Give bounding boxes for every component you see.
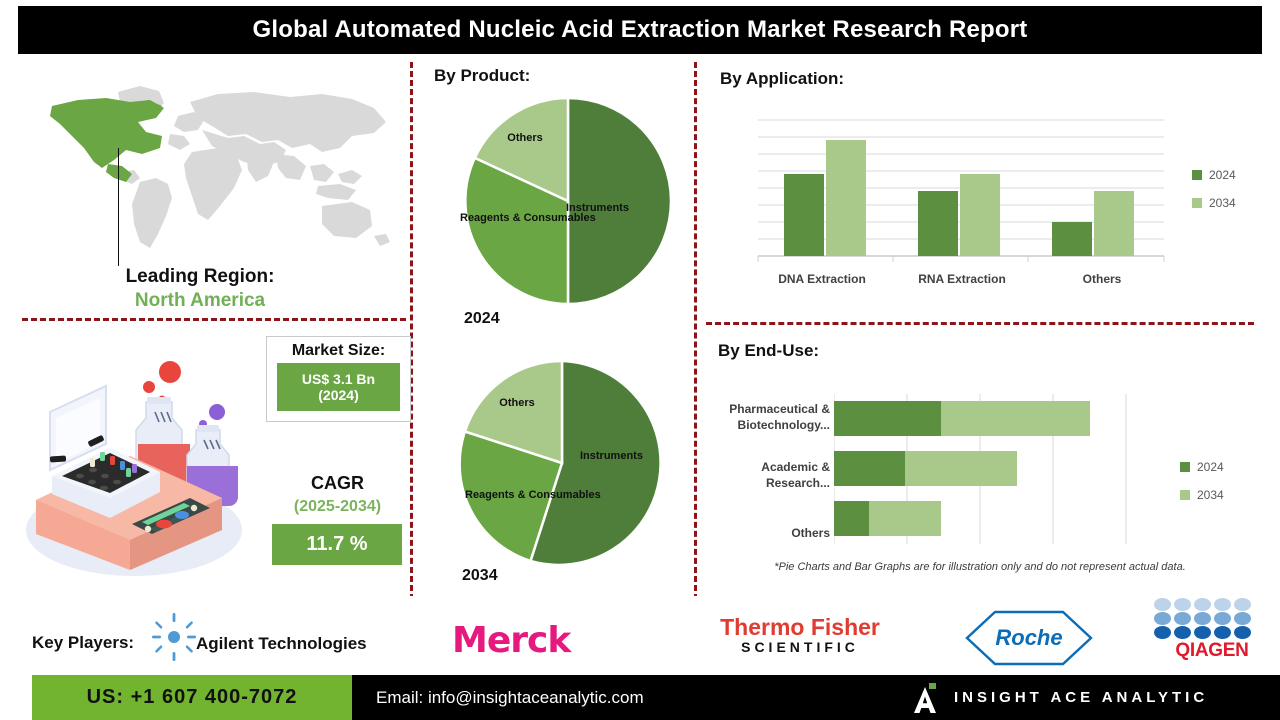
application-legend-item-2034: 2034: [1192, 196, 1236, 210]
market-size-value: US$ 3.1 Bn: [302, 371, 375, 387]
application-category-labels: DNA Extraction RNA Extraction Others: [752, 272, 1172, 286]
key-players-label: Key Players:: [32, 633, 134, 653]
pie-2034-reagents-text: Reagents & Consumables: [465, 489, 601, 501]
agilent-logo-icon: [152, 613, 196, 661]
thermofisher-logo-sub: SCIENTIFIC: [700, 639, 900, 655]
insight-ace-logo-icon: [912, 683, 938, 713]
by-product-heading: By Product:: [434, 66, 530, 86]
end-use-legend: 2024 2034: [1180, 460, 1224, 516]
footer-brand: INSIGHT ACE ANALYTIC: [912, 675, 1208, 720]
application-bar-chart: [752, 112, 1172, 272]
end-use-category-academic: Academic & Research...: [696, 454, 830, 498]
footer-phone[interactable]: US: +1 607 400-7072: [32, 675, 352, 720]
cagr-value: 11.7 %: [306, 533, 367, 556]
title-bar: Global Automated Nucleic Acid Extraction…: [18, 6, 1262, 54]
legend-label-2034: 2034: [1209, 196, 1236, 210]
pie-2024-label-others: Others: [490, 132, 560, 146]
infographic-page: Global Automated Nucleic Acid Extraction…: [0, 0, 1280, 720]
pie-2024-reagents-text: Reagents & Consumables: [460, 212, 596, 224]
by-end-use-heading: By End-Use:: [718, 341, 819, 361]
application-category-others: Others: [1032, 272, 1172, 286]
leading-region-label: Leading Region:: [0, 266, 400, 288]
market-size-card: Market Size: US$ 3.1 Bn (2024): [266, 336, 411, 422]
end-use-legend-item-2034: 2034: [1180, 488, 1224, 502]
qiagen-logo: QIAGEN: [1152, 597, 1272, 659]
divider-horizontal-right: [706, 322, 1254, 325]
pie-2034-label-reagents: Reagents & Consumables: [465, 489, 590, 503]
by-application-heading: By Application:: [720, 69, 844, 89]
legend-label-end-use-2024: 2024: [1197, 460, 1224, 474]
pie-2034-label-others: Others: [482, 397, 552, 411]
thermofisher-logo: Thermo Fisher SCIENTIFIC: [700, 615, 900, 655]
end-use-category-others: Others: [696, 512, 830, 556]
legend-swatch-end-use-2034: [1180, 490, 1190, 500]
merck-logo: Merck: [452, 620, 570, 661]
pie-2034-year: 2034: [462, 567, 498, 585]
footer-black-panel: Email: info@insightaceanalytic.com INSIG…: [352, 675, 1280, 720]
end-use-legend-item-2024: 2024: [1180, 460, 1224, 474]
leading-region-value: North America: [0, 290, 400, 312]
application-category-dna: DNA Extraction: [752, 272, 892, 286]
qiagen-logo-dots: [1152, 597, 1272, 639]
legend-label-2024: 2024: [1209, 168, 1236, 182]
lab-equipment-illustration: [14, 352, 264, 587]
application-legend: 2024 2034: [1192, 168, 1236, 224]
end-use-category-pharma: Pharmaceutical & Biotechnology...: [696, 396, 830, 440]
pie-2034-label-instruments: Instruments: [580, 450, 690, 464]
qiagen-logo-text: QIAGEN: [1152, 640, 1272, 662]
footer-email[interactable]: Email: info@insightaceanalytic.com: [376, 675, 644, 720]
market-size-year: (2024): [318, 387, 358, 403]
thermofisher-logo-name: Thermo Fisher: [700, 615, 900, 639]
cagr-range: (2025-2034): [266, 498, 409, 516]
legend-label-end-use-2034: 2034: [1197, 488, 1224, 502]
agilent-logo-text: Agilent Technologies: [196, 634, 367, 654]
legend-swatch-2034: [1192, 198, 1202, 208]
divider-horizontal-left: [22, 318, 406, 321]
footer-bar: US: +1 607 400-7072 Email: info@insighta…: [0, 675, 1280, 720]
pie-chart-2024: [460, 93, 676, 309]
cagr-value-box: 11.7 %: [272, 524, 402, 565]
insight-ace-brand-text: INSIGHT ACE ANALYTIC: [954, 689, 1208, 706]
application-category-rna: RNA Extraction: [892, 272, 1032, 286]
legend-swatch-2024: [1192, 170, 1202, 180]
roche-logo: Roche: [965, 610, 1093, 666]
map-pin-line: [118, 148, 119, 266]
legend-swatch-end-use-2024: [1180, 462, 1190, 472]
world-map: [22, 78, 412, 263]
end-use-category-labels: Pharmaceutical & Biotechnology... Academ…: [696, 396, 830, 556]
market-size-title: Market Size:: [292, 342, 385, 360]
chart-disclaimer: *Pie Charts and Bar Graphs are for illus…: [700, 561, 1260, 573]
cagr-title: CAGR: [266, 473, 409, 494]
page-title: Global Automated Nucleic Acid Extraction…: [252, 16, 1027, 44]
roche-logo-text: Roche: [965, 625, 1093, 651]
market-size-value-box: US$ 3.1 Bn (2024): [277, 363, 400, 411]
pie-2024-label-reagents: Reagents & Consumables: [460, 212, 580, 226]
end-use-bar-chart: [834, 392, 1134, 552]
pie-2024-year: 2024: [464, 310, 500, 328]
application-legend-item-2024: 2024: [1192, 168, 1236, 182]
